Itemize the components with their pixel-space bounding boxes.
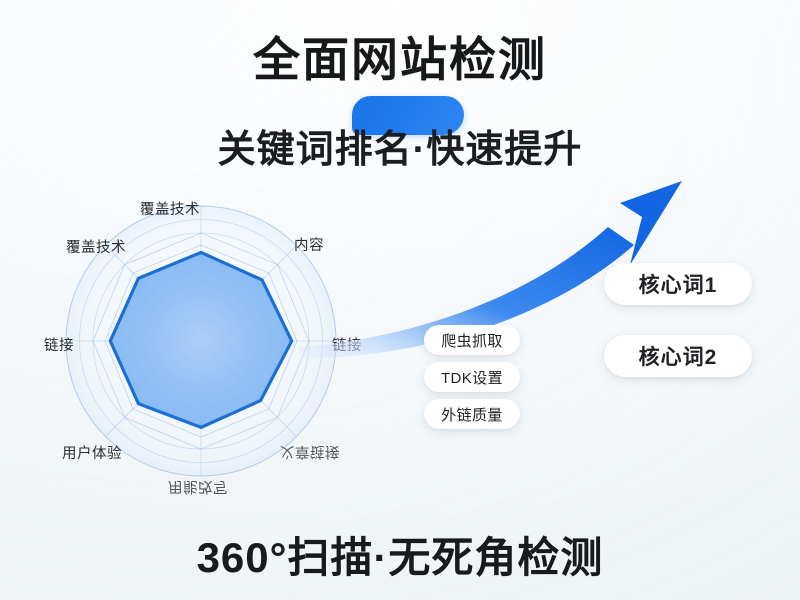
keyword-pill-label: 核心词1 <box>639 269 718 299</box>
radar-axis-label-right: 链接 <box>332 334 362 355</box>
feature-pill-label: 外链质量 <box>441 404 503 425</box>
feature-pill-backlink[interactable]: 外链质量 <box>424 399 520 429</box>
radar-axis-label-top-right: 内容 <box>294 234 324 255</box>
radar-axis-label-bottom-left: 用户体验 <box>62 442 122 463</box>
radar-axis-label-bottom: 用能改写 <box>168 477 228 498</box>
feature-pill-label: 爬虫抓取 <box>441 330 503 351</box>
page-title: 全面网站检测 <box>253 34 547 87</box>
page-footer-headline: 360°扫描·无死角检测 <box>0 524 800 585</box>
feature-pill-label: TDK设置 <box>441 367 503 388</box>
radar-chart: 覆盖技术 内容 链接 义章链接 用能改写 用户体验 链接 覆盖技术 <box>36 186 416 516</box>
radar-axis-label-bottom-right: 义章链接 <box>280 442 340 463</box>
radar-axis-label-left: 链接 <box>44 334 74 355</box>
keyword-pill-1[interactable]: 核心词1 <box>604 263 752 305</box>
radar-axis-label-top-left: 覆盖技术 <box>66 236 126 257</box>
keyword-pill-label: 核心词2 <box>639 341 718 371</box>
title-block: 全面网站检测 <box>0 34 800 87</box>
radar-axis-label-top: 覆盖技术 <box>140 198 200 219</box>
keyword-pill-2[interactable]: 核心词2 <box>604 335 752 377</box>
arrow-head <box>620 181 682 265</box>
feature-pill-crawl[interactable]: 爬虫抓取 <box>424 325 520 355</box>
poster-canvas: 全面网站检测 关键词排名·快速提升 360°扫描·无死角检测 <box>0 0 800 600</box>
page-subtitle: 关键词排名·快速提升 <box>0 118 800 173</box>
feature-pill-tdk[interactable]: TDK设置 <box>424 362 520 392</box>
